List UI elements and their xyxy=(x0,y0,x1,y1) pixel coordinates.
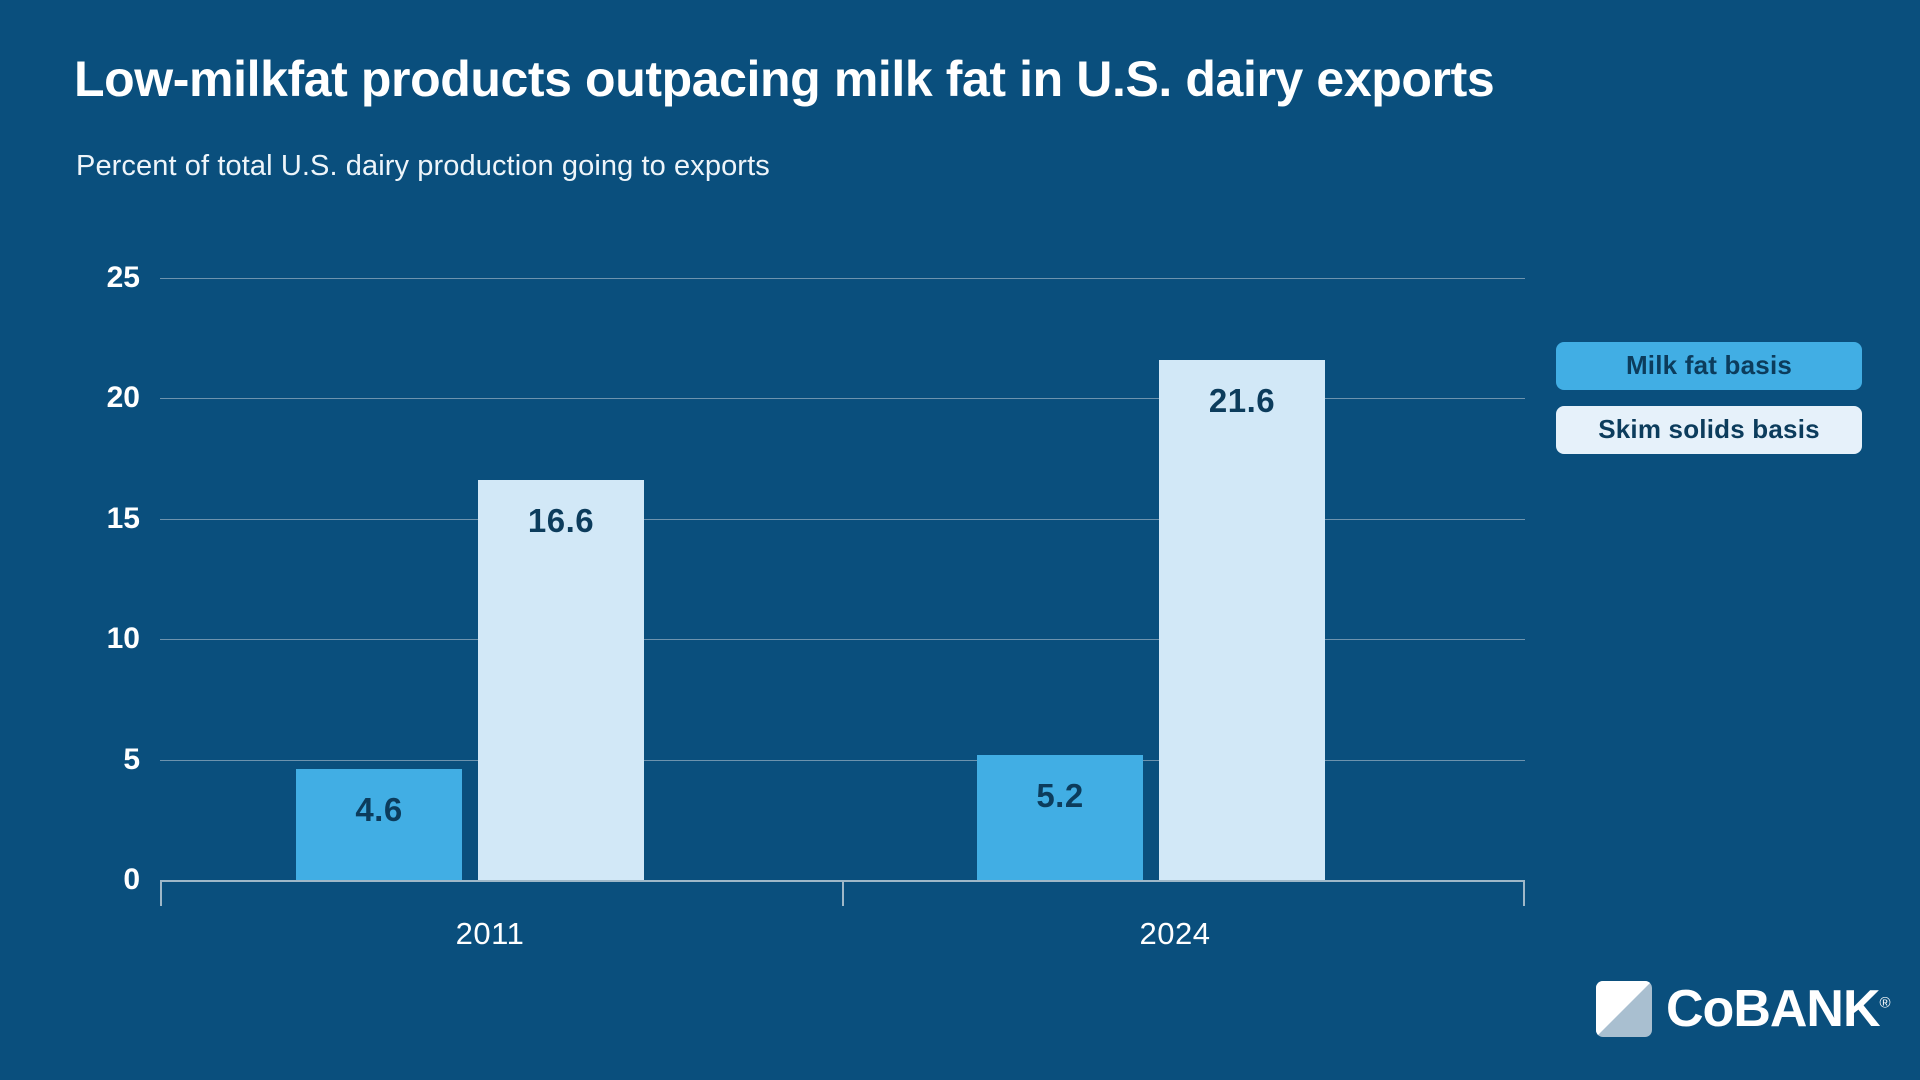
chart-canvas: Low-milkfat products outpacing milk fat … xyxy=(0,0,1920,1080)
x-axis-tick-start xyxy=(160,880,162,906)
bar-2011-milk-fat-basis[interactable]: 4.6 xyxy=(296,769,462,880)
bar-value-label: 21.6 xyxy=(1159,382,1325,420)
bar-2024-skim-solids-basis[interactable]: 21.6 xyxy=(1159,360,1325,880)
gridline-25 xyxy=(160,278,1525,279)
x-axis-tick-middle xyxy=(842,880,844,906)
page-title: Low-milkfat products outpacing milk fat … xyxy=(74,52,1834,106)
bar-2024-milk-fat-basis[interactable]: 5.2 xyxy=(977,755,1143,880)
y-tick-label-5: 5 xyxy=(50,743,140,777)
bar-2011-skim-solids-basis[interactable]: 16.6 xyxy=(478,480,644,880)
cobank-logo: CoBANK® xyxy=(1596,981,1890,1037)
bar-value-label: 4.6 xyxy=(296,791,462,829)
y-tick-label-20: 20 xyxy=(50,381,140,415)
legend-label: Skim solids basis xyxy=(1598,414,1820,444)
cobank-wordmark-text: CoBANK xyxy=(1666,980,1880,1038)
y-tick-label-15: 15 xyxy=(50,502,140,536)
x-tick-label-2011: 2011 xyxy=(330,916,650,952)
y-tick-label-10: 10 xyxy=(50,622,140,656)
bar-value-label: 16.6 xyxy=(478,502,644,540)
y-tick-label-0: 0 xyxy=(50,863,140,897)
plot-area: 4.6 16.6 5.2 21.6 xyxy=(160,278,1525,880)
x-axis-tick-end xyxy=(1523,880,1525,906)
legend-item-milk-fat-basis[interactable]: Milk fat basis xyxy=(1556,342,1862,390)
chart-subtitle: Percent of total U.S. dairy production g… xyxy=(76,150,770,183)
registered-trademark-icon: ® xyxy=(1880,995,1890,1012)
y-axis: 25 20 15 10 5 0 xyxy=(50,278,140,880)
bar-value-label: 5.2 xyxy=(977,777,1143,815)
legend-label: Milk fat basis xyxy=(1626,350,1792,380)
legend-item-skim-solids-basis[interactable]: Skim solids basis xyxy=(1556,406,1862,454)
cobank-diagonal-square-icon xyxy=(1596,981,1652,1037)
x-tick-label-2024: 2024 xyxy=(1015,916,1335,952)
legend: Milk fat basis Skim solids basis xyxy=(1556,342,1862,470)
cobank-wordmark: CoBANK® xyxy=(1666,983,1890,1035)
y-tick-label-25: 25 xyxy=(50,261,140,295)
